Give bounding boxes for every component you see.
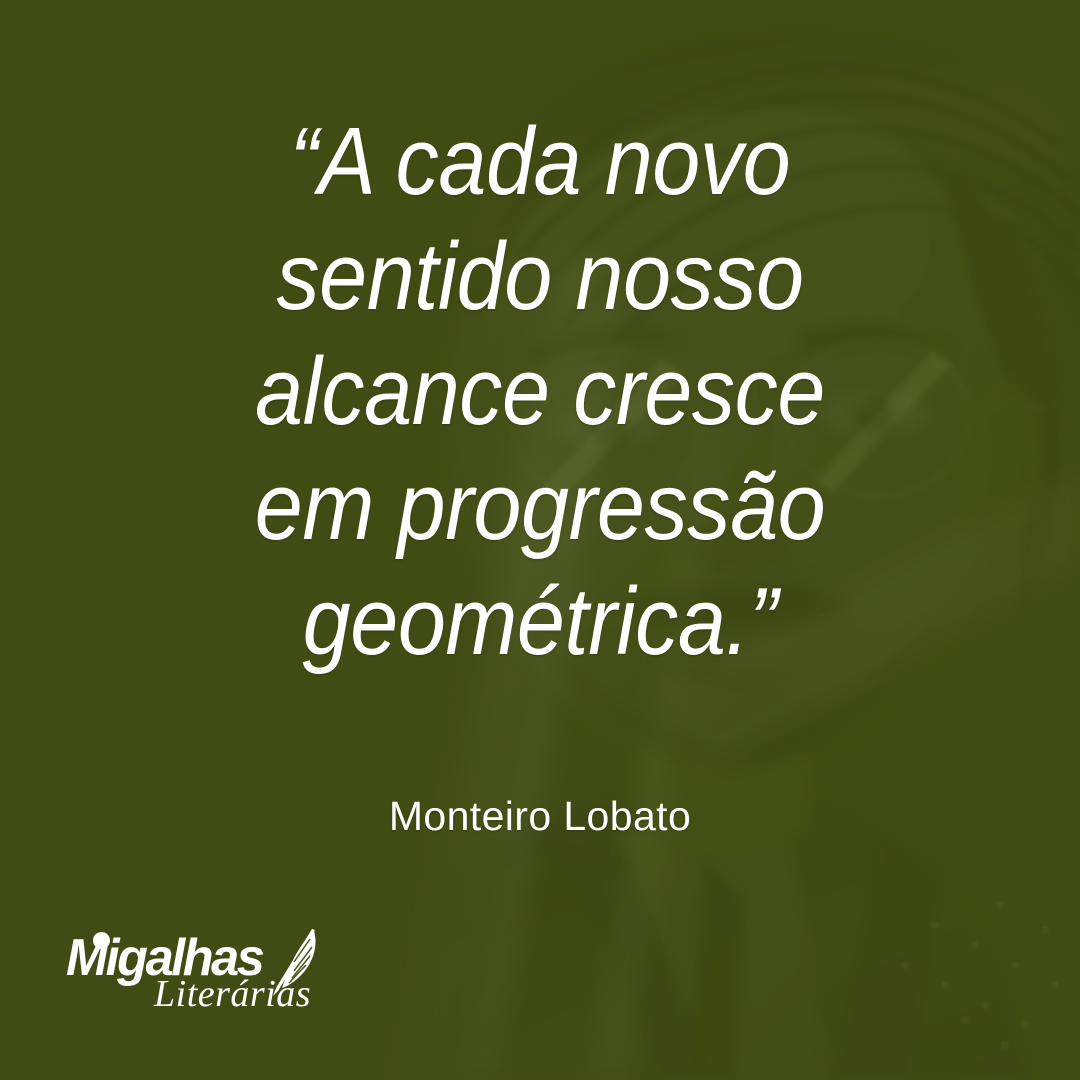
quote-line-5: geométrica.” bbox=[54, 564, 1026, 679]
logo-subtitle-text: Literárias bbox=[154, 974, 311, 1014]
logo-i-dot-icon bbox=[93, 932, 110, 949]
quote-card: “A cada novo sentido nosso alcance cresc… bbox=[0, 0, 1080, 1080]
quote-line-4: em progressão bbox=[54, 449, 1026, 564]
quote-line-2: sentido nosso bbox=[54, 219, 1026, 334]
quote-line-1: “A cada novo bbox=[54, 104, 1026, 219]
quote-line-3: alcance cresce bbox=[54, 334, 1026, 449]
quote-text: “A cada novo sentido nosso alcance cresc… bbox=[0, 104, 1080, 679]
migalhas-literarias-logo[interactable]: Migalhas Literárias bbox=[66, 930, 366, 1025]
quote-author: Monteiro Lobato bbox=[0, 793, 1080, 840]
